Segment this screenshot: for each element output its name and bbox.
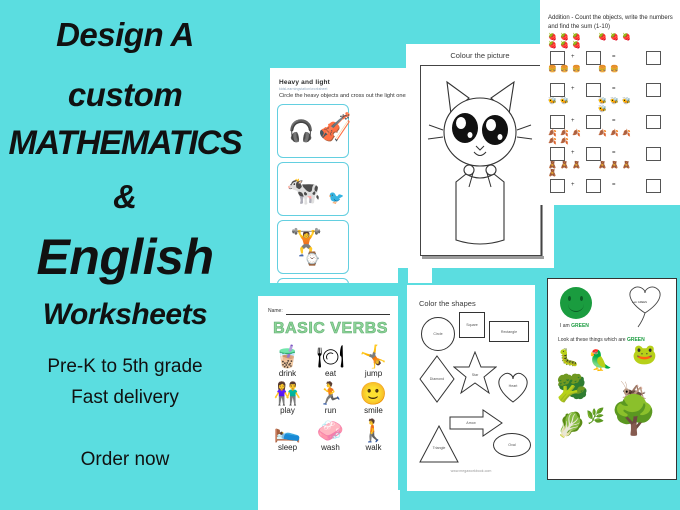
- addition-object-group: 🐝🐝🐝🐝: [598, 98, 644, 115]
- addition-row: 🍂🍂🍂🍂🍂🍂🍂🍂+=: [546, 130, 678, 161]
- verb-label: eat: [309, 369, 352, 378]
- autumn-leaf-icon: 🍂: [548, 138, 557, 145]
- equals-operator: =: [612, 182, 616, 188]
- shape-star-label: Star: [472, 373, 479, 377]
- hamburger-icon: 🍔: [548, 66, 557, 73]
- subtext-fast-delivery: Fast delivery: [0, 388, 250, 407]
- heavy-cell-dumbbell-watch[interactable]: 🏋 ⌚: [277, 220, 349, 274]
- verb-cell[interactable]: 🙂smile: [352, 381, 395, 415]
- autumn-leaf-icon: 🍂: [548, 130, 557, 137]
- heavy-cell-grid: 🎧 🎻 🐄 🐦 🏋 ⌚ 🦙 🌽 🛏 🪨 🥃 🥤: [277, 104, 425, 283]
- verb-label: run: [309, 406, 352, 415]
- verb-label: smile: [352, 406, 395, 415]
- smiley-mouth: [568, 304, 584, 312]
- shape-oval-label: Oval: [508, 443, 515, 447]
- strawberry-icon: 🍓: [598, 34, 607, 41]
- shape-square-label: Square: [466, 323, 478, 327]
- shape-star[interactable]: Star: [453, 351, 497, 395]
- heavy-cell-ostrich-corn[interactable]: 🦙 🌽: [277, 278, 349, 283]
- shape-circle[interactable]: Circle: [421, 317, 455, 351]
- hamburger-icon: 🍔: [572, 66, 581, 73]
- verb-label: jump: [352, 369, 395, 378]
- verb-cell[interactable]: 🏃run: [309, 381, 352, 415]
- strawberry-icon: 🍓: [572, 42, 581, 49]
- cabbage-icon: 🥬: [556, 414, 586, 438]
- plus-operator: +: [571, 54, 575, 60]
- shape-oval[interactable]: Oval: [493, 433, 531, 457]
- poster-canvas: Design A custom MATHEMATICS & English Wo…: [0, 0, 680, 510]
- headline-line-2: custom: [0, 78, 250, 111]
- addition-answer-box[interactable]: [550, 51, 565, 65]
- headline-line-1: Design A: [0, 18, 250, 51]
- strawberry-icon: 🍓: [548, 34, 557, 41]
- shape-rectangle-label: Rectangle: [501, 330, 517, 334]
- autumn-leaf-icon: 🍂: [560, 130, 569, 137]
- addition-sum-box[interactable]: [646, 179, 661, 193]
- promo-text-block: Design A custom MATHEMATICS & English Wo…: [0, 0, 250, 510]
- verb-label: play: [266, 406, 309, 415]
- plus-operator: +: [571, 182, 575, 188]
- cat-line-drawing-icon: [421, 66, 539, 253]
- headline-mathematics: MATHEMATICS: [0, 126, 250, 160]
- verb-cell[interactable]: 🧼wash: [309, 418, 352, 452]
- strawberry-icon: 🍓: [572, 34, 581, 41]
- heavy-subtitle: kidsLearningstation/worksheet: [279, 87, 328, 91]
- autumn-leaf-icon: 🍂: [622, 130, 631, 137]
- girl-drinking-icon: 🧋: [266, 344, 309, 370]
- addition-object-group: 🍂🍂🍂: [598, 130, 644, 147]
- heart-balloon-icon: I am GREEN: [622, 283, 668, 329]
- boy-jumping-icon: 🤸: [352, 344, 395, 370]
- shape-triangle[interactable]: Triangle: [419, 425, 459, 463]
- addition-object-group: 🍔🍔🍔: [548, 66, 594, 83]
- addition-row: 🧸🧸🧸🧸🧸🧸🧸+=: [546, 162, 678, 193]
- addition-answer-box[interactable]: [586, 83, 601, 97]
- teddy-bear-icon: 🧸: [548, 170, 557, 177]
- shape-rectangle[interactable]: Rectangle: [489, 321, 529, 342]
- verbs-grid: 🧋drink🍽eat🤸jump👫play🏃run🙂smile🛌sleep🧼was…: [266, 344, 396, 455]
- strawberry-icon: 🍓: [622, 34, 631, 41]
- equals-operator: =: [612, 118, 616, 124]
- autumn-leaf-icon: 🍂: [598, 130, 607, 137]
- green-instruction-prefix: Look at these things which are: [558, 337, 627, 343]
- worksheet-i-am-green[interactable]: I am GREEN I am GREEN Look at these thin…: [547, 278, 677, 480]
- addition-sum-box[interactable]: [646, 51, 661, 65]
- addition-answer-box[interactable]: [550, 115, 565, 129]
- hamburger-icon: 🍔: [598, 66, 607, 73]
- addition-title: Addition - Count the objects, write the …: [548, 14, 676, 33]
- child-washing-icon: 🧼: [309, 418, 352, 444]
- boy-smiling-icon: 🙂: [352, 381, 395, 407]
- smiley-eye-left: [568, 296, 571, 301]
- verb-cell[interactable]: 🍽eat: [309, 344, 352, 378]
- addition-object-group: 🍓🍓🍓🍓🍓🍓: [548, 34, 594, 51]
- bee-icon: 🐝: [598, 98, 607, 105]
- addition-sum-box[interactable]: [646, 83, 661, 97]
- smiley-eye-right: [580, 296, 583, 301]
- teddy-bear-icon: 🧸: [598, 162, 607, 169]
- plus-operator: +: [571, 86, 575, 92]
- addition-row: 🐝🐝🐝🐝🐝🐝+=: [546, 98, 678, 129]
- shape-heart[interactable]: Heart: [495, 369, 531, 403]
- green-smiley-caption: I am GREEN: [560, 323, 589, 329]
- green-smiley-icon: [560, 287, 592, 319]
- hamburger-icon: 🍔: [560, 66, 569, 73]
- accent-block-right-mid: [540, 205, 680, 277]
- plus-operator: +: [571, 118, 575, 124]
- teddy-bear-icon: 🧸: [548, 162, 557, 169]
- equals-operator: =: [612, 150, 616, 156]
- bee-icon: 🐝: [610, 98, 619, 105]
- shape-square[interactable]: Square: [459, 312, 485, 338]
- addition-object-group: 🍔🍔: [598, 66, 644, 83]
- addition-answer-box[interactable]: [550, 147, 565, 161]
- teddy-bear-icon: 🧸: [560, 162, 569, 169]
- colour-frame: [420, 65, 542, 256]
- addition-row: 🍔🍔🍔🍔🍔+=: [546, 66, 678, 97]
- child-sleeping-icon: 🛌: [266, 418, 309, 444]
- cow-icon: 🐄: [286, 177, 321, 205]
- equals-operator: =: [612, 54, 616, 60]
- green-caption-word: GREEN: [571, 323, 589, 329]
- verb-cell[interactable]: 🤸jump: [352, 344, 395, 378]
- girl-running-icon: 🏃: [309, 381, 352, 407]
- worksheet-addition[interactable]: Addition - Count the objects, write the …: [540, 0, 680, 205]
- headline-worksheets: Worksheets: [0, 300, 250, 330]
- balloon-text: I am GREEN: [632, 301, 647, 304]
- cta-order-now[interactable]: Order now: [0, 450, 250, 469]
- verbs-name-label: Name:: [268, 308, 283, 314]
- green-instruction-word: GREEN: [627, 337, 645, 343]
- addition-answer-box[interactable]: [586, 51, 601, 65]
- teddy-bear-icon: 🧸: [572, 162, 581, 169]
- shape-diamond-label: Diamond: [430, 377, 444, 381]
- caterpillar-icon: 🐛: [558, 349, 579, 366]
- bee-icon: 🐝: [548, 98, 557, 105]
- strawberry-icon: 🍓: [610, 34, 619, 41]
- addition-sum-box[interactable]: [646, 115, 661, 129]
- autumn-leaf-icon: 🍂: [560, 138, 569, 145]
- verb-cell[interactable]: 🧋drink: [266, 344, 309, 378]
- broccoli-icon: 🥦: [556, 375, 588, 401]
- verb-cell[interactable]: 🛌sleep: [266, 418, 309, 452]
- verb-label: wash: [309, 443, 352, 452]
- hamburger-icon: 🍔: [610, 66, 619, 73]
- equals-operator: =: [612, 86, 616, 92]
- shape-circle-label: Circle: [433, 332, 442, 336]
- verb-cell[interactable]: 🚶walk: [352, 418, 395, 452]
- addition-answer-box[interactable]: [586, 147, 601, 161]
- bee-icon: 🐝: [598, 106, 607, 113]
- heavy-instruction: Circle the heavy objects and cross out t…: [279, 93, 410, 99]
- verbs-name-input[interactable]: [286, 314, 390, 315]
- teddy-bear-icon: 🧸: [622, 162, 631, 169]
- bee-icon: 🐝: [560, 98, 569, 105]
- bird-icon: 🐦: [328, 191, 344, 204]
- addition-answer-box[interactable]: [586, 115, 601, 129]
- addition-answer-box[interactable]: [586, 179, 601, 193]
- worksheet-basic-verbs[interactable]: Name: BASIC VERBS 🧋drink🍽eat🤸jump👫play🏃r…: [258, 296, 403, 510]
- autumn-leaf-icon: 🍂: [572, 130, 581, 137]
- headphones-icon: 🎧: [288, 121, 314, 142]
- autumn-leaf-icon: 🍂: [610, 130, 619, 137]
- accent-bar-bottom-green: [547, 480, 680, 510]
- shape-triangle-label: Triangle: [433, 446, 446, 450]
- heavy-cell-headphones-cello[interactable]: 🎧 🎻: [277, 104, 349, 158]
- frog-icon: 🐸: [632, 345, 657, 365]
- teddy-bear-icon: 🧸: [610, 162, 619, 169]
- addition-object-group: 🐝🐝: [548, 98, 594, 115]
- addition-answer-box[interactable]: [550, 179, 565, 193]
- verb-label: sleep: [266, 443, 309, 452]
- shape-diamond[interactable]: Diamond: [419, 355, 455, 403]
- watch-icon: ⌚: [304, 252, 320, 265]
- shape-arrow-label: Arrow: [466, 421, 475, 425]
- shapes-footer-url: www.megaworkbook.com: [407, 469, 535, 473]
- shapes-title: Color the shapes: [419, 299, 476, 308]
- headline-english: English: [0, 232, 250, 282]
- verb-label: drink: [266, 369, 309, 378]
- headline-ampersand: &: [0, 180, 250, 213]
- green-caption-prefix: I am: [560, 323, 571, 329]
- parrot-icon: 🦜: [588, 351, 613, 371]
- shape-heart-label: Heart: [509, 384, 518, 388]
- green-instruction: Look at these things which are GREEN: [558, 337, 645, 343]
- strawberry-icon: 🍓: [560, 42, 569, 49]
- verbs-heading: BASIC VERBS: [258, 320, 403, 338]
- plus-operator: +: [571, 150, 575, 156]
- strawberry-icon: 🍓: [548, 42, 557, 49]
- heavy-title: Heavy and light: [279, 79, 330, 86]
- boy-walking-icon: 🚶: [352, 418, 395, 444]
- leaf-icon: 🌿: [586, 409, 605, 424]
- worksheet-color-the-shapes[interactable]: Color the shapes Circle Square Rectangle…: [407, 285, 535, 491]
- addition-sum-box[interactable]: [646, 147, 661, 161]
- tree-icon: 🌳: [610, 397, 657, 435]
- kids-playing-icon: 👫: [266, 381, 309, 407]
- verb-label: walk: [352, 443, 395, 452]
- strawberry-icon: 🍓: [560, 34, 569, 41]
- addition-object-group: 🧸🧸🧸🧸: [548, 162, 594, 179]
- child-eating-icon: 🍽: [309, 344, 352, 370]
- addition-row: 🍓🍓🍓🍓🍓🍓🍓🍓🍓+=: [546, 34, 678, 65]
- addition-answer-box[interactable]: [550, 83, 565, 97]
- subtext-grade-range: Pre-K to 5th grade: [0, 357, 250, 376]
- heavy-cell-cow-bird[interactable]: 🐄 🐦: [277, 162, 349, 216]
- colour-title: Colour the picture: [406, 51, 554, 60]
- violin-icon: 🎻: [318, 114, 352, 141]
- bee-icon: 🐝: [622, 98, 631, 105]
- worksheet-colour-the-picture[interactable]: Colour the picture: [406, 44, 554, 268]
- addition-object-group: 🍓🍓🍓: [598, 34, 644, 51]
- addition-object-group: 🧸🧸🧸: [598, 162, 644, 179]
- addition-object-group: 🍂🍂🍂🍂🍂: [548, 130, 594, 147]
- verb-cell[interactable]: 👫play: [266, 381, 309, 415]
